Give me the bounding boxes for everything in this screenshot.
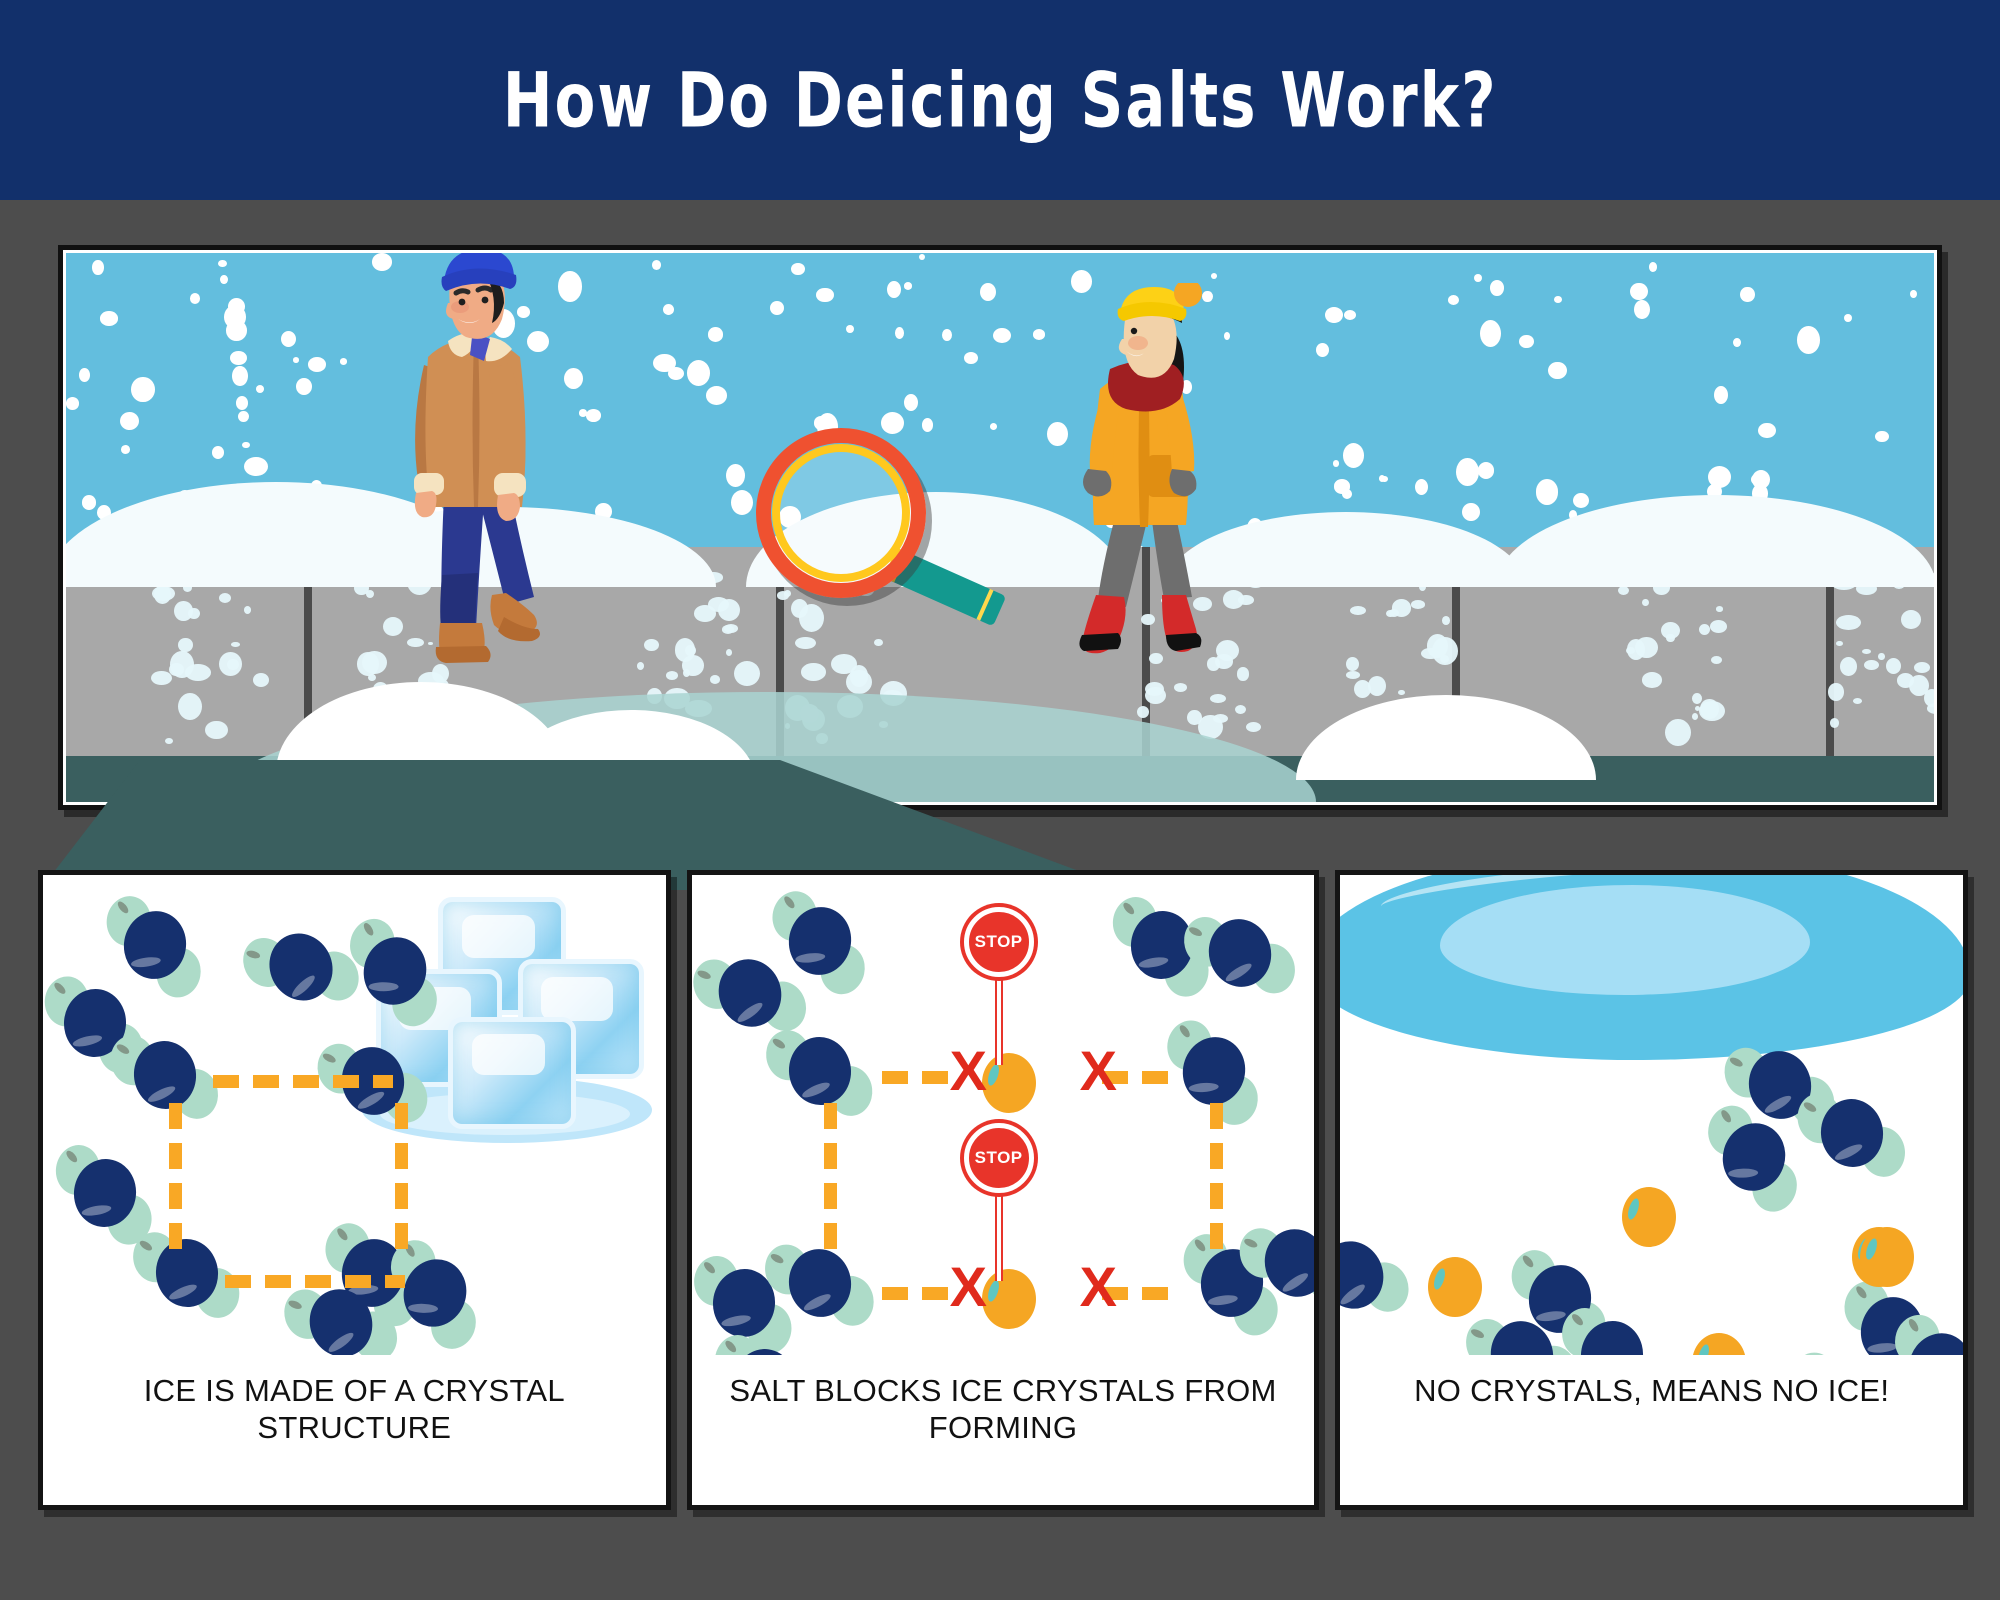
- stop-sign-label: STOP: [975, 1148, 1023, 1168]
- snowflake: [1844, 314, 1852, 322]
- ice-patch: [170, 651, 193, 678]
- salt-ion: [1860, 1227, 1914, 1287]
- ice-patch: [644, 639, 658, 651]
- ice-patch: [666, 671, 679, 680]
- ice-patch: [1836, 641, 1843, 646]
- snowflake: [1536, 479, 1559, 504]
- snowflake: [212, 446, 224, 459]
- snowflake: [226, 320, 246, 341]
- snowflake: [232, 366, 248, 386]
- ice-patch: [846, 670, 872, 694]
- ice-patch: [637, 662, 644, 670]
- snowflake: [228, 298, 245, 315]
- snowflake: [66, 397, 79, 409]
- ice-patch: [874, 639, 882, 646]
- scene-frame: [58, 245, 1942, 810]
- snowflake: [942, 329, 952, 342]
- ice-patch: [1853, 698, 1862, 704]
- blocked-bond-x-icon: X: [1080, 1259, 1117, 1315]
- snowy-sidewalk-scene: [66, 253, 1934, 802]
- ice-patch: [1145, 682, 1164, 696]
- hydrogen-bond: [213, 1075, 393, 1088]
- snowflake: [1630, 283, 1647, 300]
- snowflake: [242, 442, 249, 448]
- snowflake: [770, 301, 784, 316]
- snowflake: [990, 423, 997, 430]
- snowflake: [579, 409, 588, 417]
- ice-patch: [178, 638, 192, 652]
- snowflake: [904, 282, 912, 290]
- salt-ion: [982, 1269, 1036, 1329]
- infographic-root: How Do Deicing Salts Work?: [0, 0, 2000, 1600]
- snowflake: [904, 394, 918, 411]
- hydrogen-bond: [1210, 1103, 1223, 1263]
- hydrogen-bond: [882, 1071, 960, 1084]
- ice-patch: [726, 649, 732, 656]
- ice-patch: [1626, 647, 1635, 655]
- stop-sign-head: STOP: [964, 1123, 1034, 1193]
- snowflake: [120, 412, 139, 430]
- stop-sign-post: [995, 977, 1003, 1065]
- panel-1: ICE IS MADE OF A CRYSTAL STRUCTURE: [38, 870, 671, 1510]
- ice-patch: [1237, 667, 1249, 680]
- snowflake: [1910, 290, 1917, 298]
- snowflake: [256, 385, 264, 393]
- man-walking: [386, 253, 566, 675]
- ice-patch: [1840, 657, 1857, 676]
- snowflake: [895, 327, 904, 339]
- stop-sign-label: STOP: [975, 932, 1023, 952]
- panel-2-caption: SALT BLOCKS ICE CRYSTALS FROM FORMING: [692, 1350, 1315, 1505]
- magnifying-glass: [756, 428, 946, 618]
- ice-patch: [801, 663, 826, 681]
- ice-patch: [1389, 609, 1399, 617]
- snowflake: [816, 288, 833, 303]
- ice-patch: [151, 671, 172, 685]
- ice-patch: [1187, 710, 1202, 725]
- snowflake: [1456, 458, 1479, 486]
- ice-patch: [1710, 620, 1727, 633]
- hydrogen-bond: [225, 1275, 405, 1288]
- panel-3-caption: NO CRYSTALS, MEANS NO ICE!: [1340, 1350, 1963, 1505]
- snowflake: [726, 464, 745, 487]
- snowflake: [708, 327, 724, 342]
- ice-patch: [708, 597, 729, 612]
- ice-patch: [165, 738, 173, 744]
- blocked-bond-x-icon: X: [950, 1043, 987, 1099]
- salt-ion: [1428, 1257, 1482, 1317]
- panel-1-art: [43, 875, 666, 1355]
- ice-patch: [710, 675, 721, 684]
- ice-patch: [1711, 656, 1722, 664]
- snowflake: [687, 360, 710, 386]
- snowflake: [1548, 362, 1566, 379]
- ice-patch: [1924, 689, 1934, 707]
- ice-patch: [795, 637, 815, 649]
- snowflake: [244, 457, 268, 476]
- snowflake: [1634, 300, 1650, 319]
- snowflake: [586, 409, 601, 421]
- snowflake: [190, 293, 200, 304]
- panel-2-art: STOP STOP XXXX: [692, 875, 1315, 1355]
- panel-2: STOP STOP XXXX SALT BLOCKS ICE CRYSTALS …: [687, 870, 1320, 1510]
- snowflake: [79, 368, 90, 382]
- panel-3: NO CRYSTALS, MEANS NO ICE!: [1335, 870, 1968, 1510]
- snowflake: [1462, 503, 1480, 521]
- snowflake: [1758, 423, 1775, 438]
- ice-patch: [1901, 610, 1921, 629]
- ice-patch: [253, 673, 269, 687]
- ice-patch: [1828, 683, 1844, 700]
- hydrogen-bond: [169, 1103, 182, 1263]
- ice-patch: [1442, 616, 1450, 625]
- salt-ion: [1622, 1187, 1676, 1247]
- water-puddle: [1340, 875, 1963, 1060]
- snowflake: [92, 260, 103, 275]
- woman-walking: [1056, 283, 1236, 683]
- ice-patch: [1635, 637, 1658, 658]
- snowflake: [1334, 479, 1351, 494]
- header-bar: How Do Deicing Salts Work?: [0, 0, 2000, 200]
- ice-patch: [1411, 600, 1425, 608]
- salt-ion: [982, 1053, 1036, 1113]
- snowflake: [1333, 460, 1340, 467]
- ice-patch: [1836, 615, 1861, 630]
- hydrogen-bond: [824, 1103, 837, 1263]
- ice-patch: [1692, 713, 1698, 720]
- snowflake: [731, 490, 753, 515]
- ice-patch: [1661, 622, 1680, 639]
- ice-patch: [1618, 586, 1629, 595]
- snowflake: [238, 411, 249, 422]
- snowflake: [1478, 462, 1495, 479]
- ice-patch: [1354, 680, 1371, 698]
- snowflake: [220, 275, 227, 284]
- snowflake: [100, 311, 118, 325]
- snowflake: [1740, 287, 1754, 302]
- ice-patch: [368, 674, 376, 681]
- panel-1-caption: ICE IS MADE OF A CRYSTAL STRUCTURE: [43, 1350, 666, 1505]
- magnifier-lens: [780, 452, 902, 574]
- ice-patch: [219, 593, 231, 603]
- snowflake: [1480, 320, 1501, 347]
- snowflake: [1573, 493, 1589, 508]
- stop-sign-head: STOP: [964, 907, 1034, 977]
- snowflake: [1490, 280, 1504, 296]
- ice-patch: [1699, 624, 1710, 635]
- blocked-bond-x-icon: X: [1080, 1043, 1117, 1099]
- snowflake: [1325, 307, 1343, 323]
- snowflake: [663, 304, 674, 315]
- ice-patch: [1716, 606, 1724, 612]
- ice-patch: [1642, 672, 1662, 687]
- ice-patch: [1346, 657, 1359, 671]
- panel-3-art: [1340, 875, 1963, 1355]
- ice-patch: [1174, 683, 1187, 692]
- stop-sign-post: [995, 1193, 1003, 1281]
- ice-cube: [448, 1017, 576, 1129]
- snowflake: [281, 331, 296, 347]
- snowflake: [82, 495, 97, 510]
- ice-patch: [682, 655, 704, 676]
- snowflake: [340, 358, 347, 365]
- page-title: How Do Deicing Salts Work?: [503, 55, 1498, 144]
- panel-row: ICE IS MADE OF A CRYSTAL STRUCTURE STOP …: [38, 870, 1968, 1510]
- hydrogen-bond: [882, 1287, 960, 1300]
- salt-ion: [1692, 1333, 1746, 1355]
- ice-patch: [1642, 599, 1649, 606]
- snowflake: [887, 281, 901, 298]
- snowflake: [791, 263, 804, 275]
- snowflake: [1448, 295, 1459, 305]
- snowflake: [131, 377, 154, 402]
- ice-patch: [1914, 662, 1930, 673]
- snowflake: [1554, 296, 1562, 303]
- ice-patch: [1350, 606, 1366, 615]
- blocked-bond-x-icon: X: [950, 1259, 987, 1315]
- ice-patch: [1878, 653, 1884, 660]
- ice-patch: [1398, 690, 1405, 695]
- snowflake: [1519, 335, 1533, 348]
- hydrogen-bond: [395, 1103, 408, 1263]
- ice-patch: [1699, 701, 1725, 721]
